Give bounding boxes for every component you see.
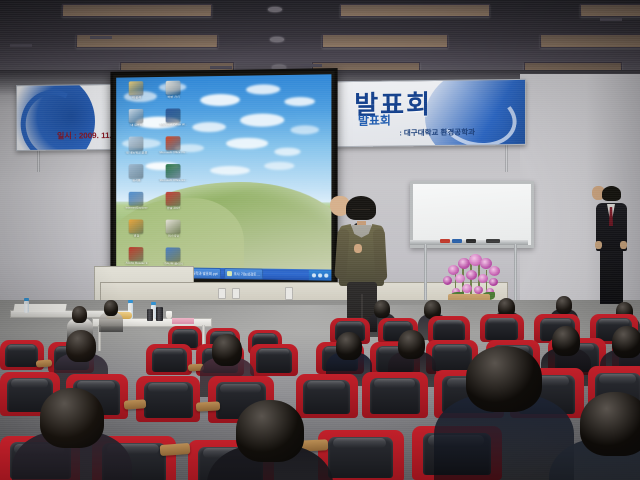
taskbar-button-label: 조사 가능성검토 ... xyxy=(234,271,261,276)
desktop-icon[interactable]: Microsoft Office W... xyxy=(157,108,190,133)
attendant-hand-right xyxy=(620,241,627,249)
volume-icon[interactable] xyxy=(312,273,316,277)
audience-mid-3-head xyxy=(552,326,580,356)
seat-highlight xyxy=(307,381,345,390)
eraser xyxy=(486,239,500,243)
desktop-icon[interactable]: 내 문서 xyxy=(120,81,153,106)
wall-outlet xyxy=(232,288,240,299)
wall-outlet xyxy=(285,287,293,300)
shortcut-icon[interactable] xyxy=(166,81,181,95)
ms-word-icon[interactable] xyxy=(166,108,181,122)
desktop-icon-label: 내 네트워크 환경 xyxy=(118,151,155,155)
projected-desktop: 내 문서내 컴퓨터내 네트워크 환경휴지통Internet Explorer알집… xyxy=(116,74,331,280)
attendant-hand-left xyxy=(595,241,602,249)
seat-highlight xyxy=(337,322,362,327)
orchid-bloom xyxy=(455,274,465,283)
presenter-hair xyxy=(346,196,376,220)
seat-armrest xyxy=(196,401,220,411)
seat-highlight xyxy=(435,345,467,352)
orchid-bloom xyxy=(466,270,477,280)
desktop-icon-label: 휴지통 xyxy=(118,179,155,183)
audience-mid-1-head xyxy=(336,332,362,360)
desktop-icon[interactable]: 바로 가기 xyxy=(157,80,190,105)
standing-attendant xyxy=(592,186,632,306)
audience-far-1-head xyxy=(104,300,118,316)
audience-front-center-head xyxy=(466,346,542,412)
my-computer-icon[interactable] xyxy=(129,109,144,123)
ceiling-light-fixture xyxy=(340,4,490,17)
seat-highlight xyxy=(174,330,195,335)
audience-front-left2-head xyxy=(236,400,304,462)
audience-far-2-head xyxy=(72,306,87,323)
audience-left-2-head xyxy=(212,334,242,366)
presenter-arm-right xyxy=(373,229,388,282)
network-icon[interactable] xyxy=(129,137,144,151)
orchid-bloom xyxy=(478,274,488,283)
desktop-icon[interactable]: Microsoft Office Ex... xyxy=(157,164,190,189)
ceiling-light-fixture xyxy=(540,34,640,48)
seat-highlight xyxy=(488,318,515,324)
ceiling-light-fixture xyxy=(322,34,448,48)
ceiling-vent xyxy=(210,66,232,69)
marker-black xyxy=(466,239,476,243)
seat-armrest xyxy=(36,359,52,367)
marker-blue xyxy=(452,239,462,243)
seat-highlight xyxy=(599,319,629,325)
taskbar-button[interactable]: 조사 가능성검토 ... xyxy=(224,268,264,280)
projection-screen: 내 문서내 컴퓨터내 네트워크 환경휴지통Internet Explorer알집… xyxy=(110,68,337,287)
desktop-icon-label: 한글 2007 xyxy=(155,207,192,211)
desktop-icon-label: Microsoft Office Ex... xyxy=(155,179,192,183)
desktop-icon[interactable]: 내 컴퓨터 xyxy=(120,109,153,134)
desktop-icon-column-1[interactable]: 내 문서내 컴퓨터내 네트워크 환경휴지통Internet Explorer알집… xyxy=(120,81,153,281)
document-icon[interactable] xyxy=(166,220,181,234)
ime-icon[interactable] xyxy=(324,273,328,277)
audience-far-6-head xyxy=(556,296,572,314)
desktop-icon-label: Microsoft Office W... xyxy=(155,123,192,127)
desktop-icon[interactable]: 이기적인 xyxy=(157,220,190,245)
desktop-icon[interactable]: Internet Explorer xyxy=(120,192,153,217)
ceiling-speaker-icon xyxy=(268,7,282,12)
seat-highlight xyxy=(436,320,462,325)
desktop-icon[interactable]: 내 네트워크 환경 xyxy=(120,136,153,161)
audience-mid-4-head xyxy=(612,326,640,358)
seat-highlight xyxy=(8,345,35,351)
seat-highlight xyxy=(11,379,48,388)
desktop-icon-label: Microsoft Office Po... xyxy=(155,151,192,155)
ceiling-speaker-icon xyxy=(270,37,284,42)
recycle-bin-icon[interactable] xyxy=(129,164,144,178)
orchid-bloom xyxy=(474,286,483,294)
seat-highlight xyxy=(599,374,636,384)
network-icon[interactable] xyxy=(318,273,322,277)
desktop-icon[interactable]: 한글 2007 xyxy=(157,192,190,217)
desktop-icon-label: 내 문서 xyxy=(118,96,155,100)
desktop-icon-label: 바로 가기 xyxy=(155,95,192,99)
whiteboard xyxy=(410,181,534,248)
daum-cleaner-icon[interactable] xyxy=(166,247,181,261)
seat-highlight xyxy=(154,349,183,355)
glasses-icon xyxy=(352,209,370,214)
bottle-cap xyxy=(151,302,156,305)
ceiling-vent xyxy=(10,44,32,47)
seat-highlight xyxy=(148,383,188,392)
seat-highlight xyxy=(254,334,275,339)
ceiling-vent xyxy=(600,18,622,21)
water-bottle xyxy=(24,301,29,313)
banner-subtitle-right: 발표회 xyxy=(358,114,391,128)
orchid-bloom xyxy=(489,278,498,286)
alzip-icon[interactable] xyxy=(129,219,144,233)
ms-powerpoint-icon[interactable] xyxy=(166,136,181,150)
wall-outlet xyxy=(218,288,226,299)
whiteboard-leg-right xyxy=(514,244,517,302)
orchid-bloom xyxy=(489,266,500,276)
desktop-icon[interactable]: Microsoft Office Po... xyxy=(157,136,190,161)
ms-excel-icon[interactable] xyxy=(166,164,181,178)
hangul-icon[interactable] xyxy=(166,192,181,206)
lecture-hall-photo: 대구대 발표회 대구 발표회 일시 : 2009. 11. 20(금) : 대구… xyxy=(0,0,640,480)
bottle-cap xyxy=(128,300,133,303)
desktop-icon[interactable]: 휴지통 xyxy=(120,164,153,189)
seat-armrest xyxy=(124,399,147,410)
seat-highlight xyxy=(374,379,415,388)
ceiling-vent xyxy=(300,64,322,67)
system-tray[interactable] xyxy=(309,270,332,280)
bottle-cap xyxy=(24,298,29,301)
ceiling-light-fixture xyxy=(580,4,640,17)
marker-red xyxy=(440,239,450,243)
audience-left-1-head xyxy=(66,330,96,362)
seat-highlight xyxy=(259,349,289,355)
cloud xyxy=(210,166,250,175)
desktop-icon-column-2[interactable]: 바로 가기Microsoft Office W...Microsoft Offi… xyxy=(157,80,190,280)
thermos xyxy=(156,307,163,321)
desktop-icon-label: 알집 xyxy=(118,234,155,238)
desktop-icon[interactable]: 알집 xyxy=(120,219,153,244)
audience-mid-2-head xyxy=(398,330,425,359)
ceiling-light-fixture xyxy=(62,4,212,17)
orchid-bloom xyxy=(443,276,452,285)
audience-front-right-head xyxy=(580,392,640,456)
desktop-icon-label: 이기적인 xyxy=(155,234,192,238)
ceiling-vent xyxy=(90,36,112,39)
desktop-icon-label: 내 컴퓨터 xyxy=(118,124,155,128)
desktop-icon-label: Internet Explorer xyxy=(118,207,155,211)
presenter-hand xyxy=(354,244,362,253)
audience-front-left-head xyxy=(40,388,104,448)
pink-napkin xyxy=(172,318,194,324)
explorer-icon xyxy=(227,271,232,276)
attendant-trousers xyxy=(600,249,623,304)
whiteboard-leg-left xyxy=(424,244,427,302)
seat-highlight xyxy=(385,322,410,327)
cloud xyxy=(264,162,294,170)
handout-papers xyxy=(13,304,66,312)
adobe-reader-icon[interactable] xyxy=(129,247,144,261)
seat-highlight xyxy=(542,319,571,325)
seat-armrest xyxy=(160,443,191,456)
internet-explorer-icon[interactable] xyxy=(129,192,144,206)
cloud xyxy=(274,148,300,156)
audience-far-3-head xyxy=(374,300,390,318)
my-documents-icon[interactable] xyxy=(129,81,144,95)
coffee-can xyxy=(147,309,153,321)
seat-highlight xyxy=(220,384,261,393)
attendant-hair xyxy=(602,186,621,201)
seat-highlight xyxy=(333,438,386,448)
